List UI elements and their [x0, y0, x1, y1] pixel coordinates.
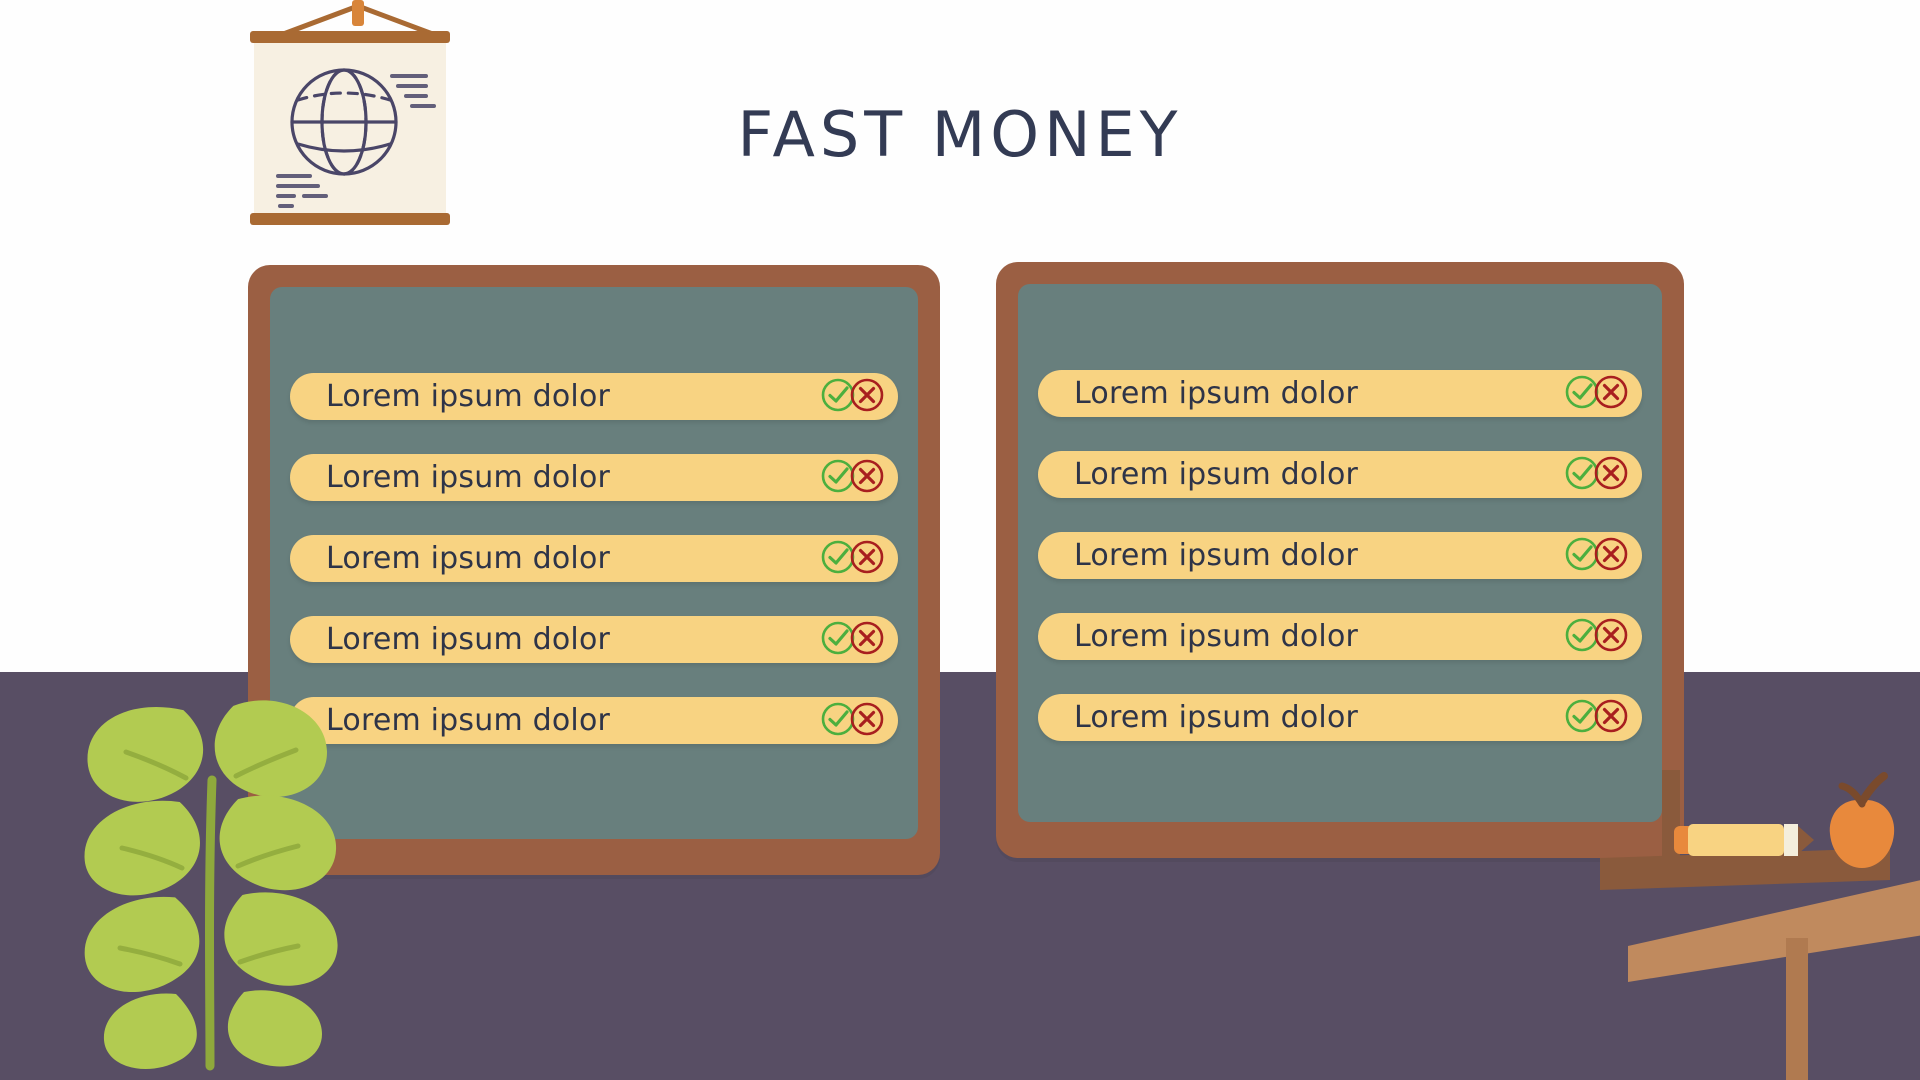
answer-marks: [1563, 535, 1642, 577]
cross-circle-icon[interactable]: [848, 619, 886, 661]
answer-row[interactable]: Lorem ipsum dolor: [1038, 451, 1642, 498]
answer-row[interactable]: Lorem ipsum dolor: [290, 535, 898, 582]
answer-row[interactable]: Lorem ipsum dolor: [290, 454, 898, 501]
answer-text: Lorem ipsum dolor: [1038, 457, 1563, 492]
potted-plant: [40, 660, 410, 1080]
answer-marks: [1563, 697, 1642, 739]
cross-circle-icon[interactable]: [848, 457, 886, 499]
answer-marks: [819, 538, 898, 580]
right-board-surface: Lorem ipsum dolor Lorem ipsum dolor: [1018, 284, 1662, 822]
cross-circle-icon[interactable]: [848, 700, 886, 742]
cross-circle-icon[interactable]: [1592, 535, 1630, 577]
right-board-rows: Lorem ipsum dolor Lorem ipsum dolor: [1018, 370, 1662, 741]
answer-marks: [1563, 373, 1642, 415]
answer-marks: [819, 619, 898, 661]
answer-marks: [819, 457, 898, 499]
answer-marks: [819, 700, 898, 742]
answer-marks: [1563, 616, 1642, 658]
answer-marks: [1563, 454, 1642, 496]
answer-row[interactable]: Lorem ipsum dolor: [1038, 532, 1642, 579]
answer-row[interactable]: Lorem ipsum dolor: [1038, 613, 1642, 660]
page-title: FAST MONEY: [0, 98, 1920, 171]
answer-row[interactable]: Lorem ipsum dolor: [290, 616, 898, 663]
cross-circle-icon[interactable]: [1592, 373, 1630, 415]
cross-circle-icon[interactable]: [848, 376, 886, 418]
answer-row[interactable]: Lorem ipsum dolor: [290, 373, 898, 420]
cross-circle-icon[interactable]: [848, 538, 886, 580]
answer-text: Lorem ipsum dolor: [1038, 376, 1563, 411]
slide-canvas: FAST MONEY: [0, 0, 1920, 1080]
cross-circle-icon[interactable]: [1592, 616, 1630, 658]
answer-row[interactable]: Lorem ipsum dolor: [1038, 370, 1642, 417]
school-desk: [1600, 770, 1920, 1080]
answer-text: Lorem ipsum dolor: [290, 622, 819, 657]
right-board: Lorem ipsum dolor Lorem ipsum dolor: [996, 262, 1684, 858]
cross-circle-icon[interactable]: [1592, 697, 1630, 739]
answer-text: Lorem ipsum dolor: [1038, 700, 1563, 735]
answer-text: Lorem ipsum dolor: [290, 541, 819, 576]
answer-text: Lorem ipsum dolor: [1038, 619, 1563, 654]
answer-marks: [819, 376, 898, 418]
answer-text: Lorem ipsum dolor: [290, 460, 819, 495]
cross-circle-icon[interactable]: [1592, 454, 1630, 496]
answer-row[interactable]: Lorem ipsum dolor: [1038, 694, 1642, 741]
answer-text: Lorem ipsum dolor: [290, 379, 819, 414]
answer-text: Lorem ipsum dolor: [1038, 538, 1563, 573]
